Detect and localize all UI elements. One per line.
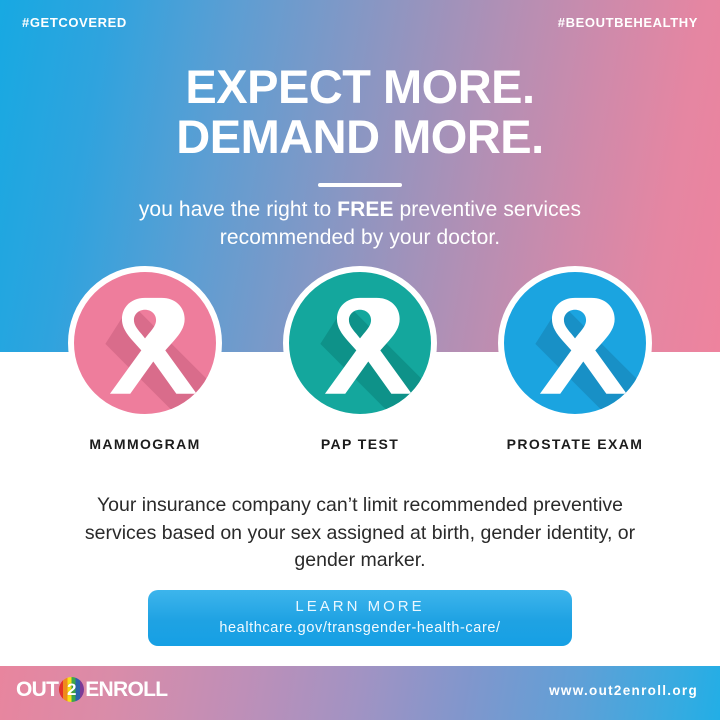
headline-line-2: DEMAND MORE. (0, 112, 720, 162)
service-label-mammogram: MAMMOGRAM (55, 436, 235, 452)
services-row: MAMMOGRAM PAP TEST PROSTATE EXAM (0, 266, 720, 466)
body-paragraph: Your insurance company can’t limit recom… (60, 492, 660, 575)
subheading-emphasis: FREE (337, 198, 393, 221)
awareness-ribbon-icon (504, 272, 646, 414)
logo-text-out: OUT (16, 679, 58, 700)
awareness-ribbon-icon (74, 272, 216, 414)
learn-more-label: LEARN MORE (148, 598, 572, 617)
awareness-ribbon-icon (289, 272, 431, 414)
out2enroll-logo[interactable]: OUT 2 ENROLL (16, 677, 167, 701)
service-circle-pap-test (283, 266, 437, 420)
service-label-prostate-exam: PROSTATE EXAM (485, 436, 665, 452)
learn-more-url: healthcare.gov/transgender-health-care/ (148, 619, 572, 639)
service-circle-prostate-exam (498, 266, 652, 420)
page-title: EXPECT MORE. DEMAND MORE. (0, 62, 720, 163)
subheading-before: you have the right to (139, 198, 337, 221)
hashtag-be-out-be-healthy: #BEOUTBEHEALTHY (558, 15, 698, 30)
rainbow-circle-icon: 2 (59, 677, 84, 702)
infographic-poster: #GETCOVERED #BEOUTBEHEALTHY EXPECT MORE.… (0, 0, 720, 720)
title-divider (318, 183, 402, 187)
subheading: you have the right to FREE preventive se… (100, 196, 620, 252)
service-label-pap-test: PAP TEST (270, 436, 450, 452)
service-item-prostate-exam: PROSTATE EXAM (485, 266, 665, 452)
footer-website[interactable]: www.out2enroll.org (549, 683, 698, 698)
service-circle-mammogram (68, 266, 222, 420)
learn-more-button[interactable]: LEARN MORE healthcare.gov/transgender-he… (148, 590, 572, 646)
hashtag-bar: #GETCOVERED #BEOUTBEHEALTHY (0, 0, 720, 44)
logo-digit-two: 2 (59, 677, 84, 702)
headline-line-1: EXPECT MORE. (185, 60, 534, 113)
service-item-pap-test: PAP TEST (270, 266, 450, 452)
logo-text-enroll: ENROLL (85, 679, 167, 700)
service-item-mammogram: MAMMOGRAM (55, 266, 235, 452)
hashtag-get-covered: #GETCOVERED (22, 15, 127, 30)
